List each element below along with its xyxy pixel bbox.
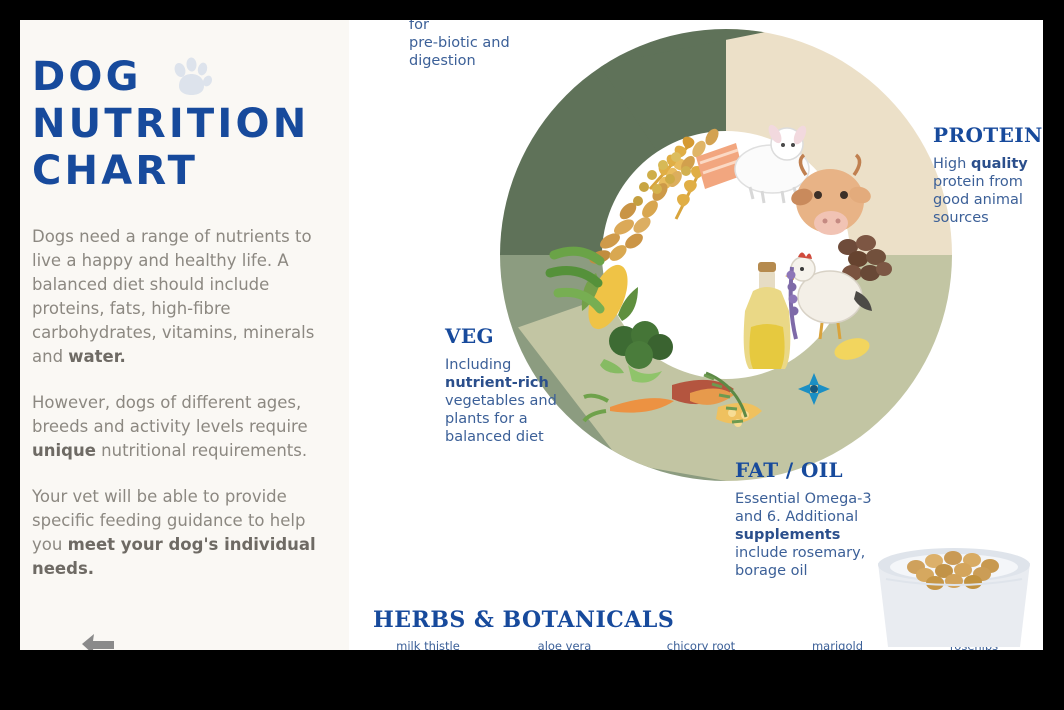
intro-text-block: Dogs need a range of nutrients to live a… <box>32 225 332 581</box>
herb-label: milk thistle <box>373 640 483 650</box>
herb-item[interactable]: aloe vera <box>510 640 620 650</box>
callout-protein-body: High quality protein from good animal so… <box>933 155 1043 227</box>
callout-fibre-body: in soluble fibre for pre-biotic and dige… <box>409 20 549 70</box>
title-line-nutrition: NUTRITION <box>32 101 342 148</box>
mouse-cursor-arrow <box>80 632 118 650</box>
donut-segments <box>500 29 952 481</box>
herb-label: aloe vera <box>510 640 620 650</box>
intro-paragraph-1: Dogs need a range of nutrients to live a… <box>32 225 332 369</box>
callout-protein-heading: PROTEIN <box>933 123 1043 147</box>
herb-item[interactable]: milk thistle <box>373 640 483 650</box>
callout-protein: PROTEIN High quality protein from good a… <box>933 123 1043 227</box>
herb-label: chicory root <box>646 640 756 650</box>
callout-fibre: in soluble fibre for pre-biotic and dige… <box>409 20 549 70</box>
callout-veg-heading: VEG <box>445 324 565 348</box>
donut-center-hole <box>602 131 851 380</box>
callout-veg-body: Including nutrient-rich vegetables and p… <box>445 356 565 446</box>
dog-food-bowl-illustration <box>864 535 1043 647</box>
intro-paragraph-3: Your vet will be able to provide specifi… <box>32 485 332 581</box>
paw-print-icon <box>169 56 213 98</box>
page-title: DOG NUTRITION CHART <box>32 54 342 195</box>
callout-fat-oil: FAT / OIL Essential Omega-3 and 6. Addit… <box>735 458 875 580</box>
left-info-panel: DOG NUTRITION CHART Dogs need a range of… <box>20 20 349 650</box>
title-line-chart: CHART <box>32 148 342 195</box>
intro-paragraph-2: However, dogs of different ages, breeds … <box>32 391 332 463</box>
document-page: DOG NUTRITION CHART Dogs need a range of… <box>20 20 1043 650</box>
chart-main-area: in soluble fibre for pre-biotic and dige… <box>349 20 1043 650</box>
herbs-section-heading: HERBS & BOTANICALS <box>373 607 674 633</box>
callout-fat-oil-body: Essential Omega-3 and 6. Additional supp… <box>735 490 875 580</box>
callout-fat-oil-heading: FAT / OIL <box>735 458 875 482</box>
callout-veg: VEG Including nutrient-rich vegetables a… <box>445 324 565 446</box>
herb-item[interactable]: chicory root <box>646 640 756 650</box>
nutrition-donut-chart <box>500 29 952 481</box>
